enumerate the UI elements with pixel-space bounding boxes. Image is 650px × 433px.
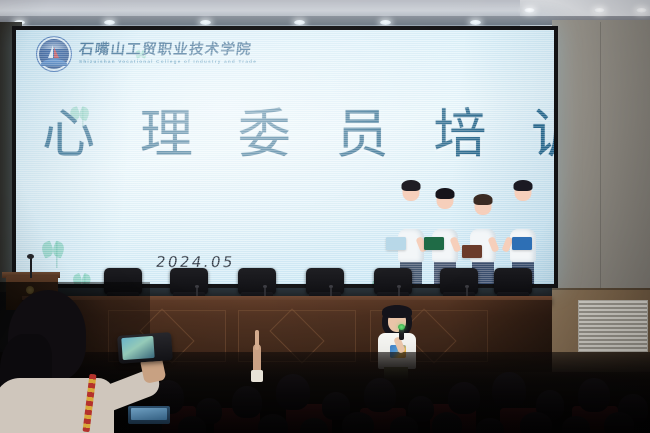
shirt-sleeve [251, 370, 263, 382]
student-hair [436, 188, 455, 199]
crest-wave [40, 59, 68, 66]
phone-screen [121, 336, 154, 360]
ceiling-downlight [200, 20, 211, 25]
ceiling-downlight [524, 8, 535, 13]
raised-hand [252, 330, 262, 378]
ceiling-downlight [470, 20, 481, 25]
sailboat-crest-icon [36, 36, 72, 72]
student-hair [474, 194, 493, 205]
wall-seam [600, 22, 601, 288]
table-microphone-head [465, 285, 469, 288]
college-name-chinese: 石嘴山工贸职业技术学院 [78, 43, 258, 58]
crest-white-sail [48, 45, 53, 58]
student-hair [402, 180, 421, 191]
wall-air-vent [578, 300, 648, 352]
sprout-leaf [50, 242, 64, 268]
slide-title: 心 理 委 员 培 训 [42, 108, 554, 161]
ceiling-downlight [104, 20, 115, 25]
ceiling-downlight [380, 20, 391, 25]
right-wall [552, 20, 650, 288]
ceiling-downlight [294, 20, 305, 25]
table-microphone-head [329, 285, 333, 288]
conference-hall-photo: 石嘴山工贸职业技术学院 Shizuishan Vocational Colleg… [0, 0, 650, 433]
presenter-bangs [382, 305, 412, 318]
student-book [512, 237, 532, 250]
college-logo: 石嘴山工贸职业技术学院 Shizuishan Vocational Colleg… [36, 36, 257, 72]
ceiling-downlight [594, 8, 605, 13]
student-book [424, 237, 444, 250]
student-book [462, 245, 482, 258]
pointing-finger [255, 330, 259, 350]
table-microphone-head [397, 285, 401, 288]
table-microphone-head [195, 285, 199, 288]
chair-back [238, 268, 276, 294]
ceiling-downlight [636, 8, 647, 13]
student-hair [514, 180, 533, 191]
college-name-english: Shizuishan Vocational College of Industr… [79, 60, 257, 65]
crest-red-sail [54, 47, 59, 58]
lectern-microphone-head [27, 254, 34, 259]
table-microphone-head [263, 285, 267, 288]
slide-surface: 石嘴山工贸职业技术学院 Shizuishan Vocational Colleg… [16, 30, 554, 284]
chair-back [306, 268, 344, 294]
student-tablet [386, 237, 406, 250]
microphone-head-icon [398, 324, 405, 330]
chair-back [170, 268, 208, 294]
led-display-screen: 石嘴山工贸职业技术学院 Shizuishan Vocational Colleg… [12, 26, 558, 288]
chair-back [440, 268, 478, 294]
college-name-block: 石嘴山工贸职业技术学院 Shizuishan Vocational Colleg… [79, 43, 257, 65]
chair-back [494, 268, 532, 294]
foreground-photographer [0, 282, 150, 433]
chair-back [374, 268, 412, 294]
